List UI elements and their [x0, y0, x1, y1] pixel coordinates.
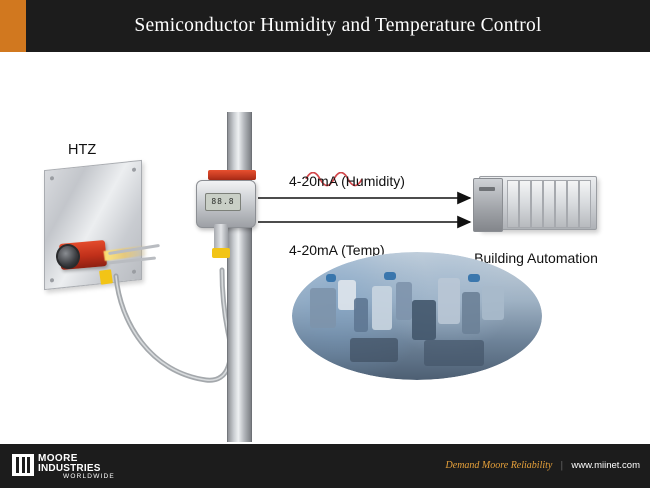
htz-label: HTZ: [68, 142, 96, 158]
diagram-canvas: HTZ 88.8: [0, 52, 650, 444]
plc-io-module: [579, 180, 591, 228]
transmitter-display: 88.8: [205, 193, 241, 211]
footer-tagline: Demand Moore Reliability: [446, 460, 553, 471]
sensor-cable: [110, 262, 240, 412]
transmitter-cable-tag: [212, 248, 230, 258]
footer-url[interactable]: www.miinet.com: [571, 460, 640, 471]
building-automation-plc: [473, 176, 595, 234]
plc-io-module: [519, 180, 531, 228]
plc-io-module: [507, 180, 519, 228]
plc-io-module: [555, 180, 567, 228]
mounting-plate: [44, 160, 142, 290]
slide-root: Semiconductor Humidity and Temperature C…: [0, 0, 650, 488]
header-accent-bar: [0, 0, 26, 52]
plc-io-module: [543, 180, 555, 228]
plate-screw-icon: [50, 176, 54, 180]
footer-info: Demand Moore Reliability | www.miinet.co…: [446, 444, 640, 488]
transmitter-mounting-bracket: [208, 170, 256, 180]
moore-logo-icon: [12, 454, 34, 476]
plc-io-module: [567, 180, 579, 228]
cleanroom-photo-image: [292, 252, 542, 380]
footer-logo: MOORE INDUSTRIES WORLDWIDE: [0, 444, 130, 488]
slide-header: Semiconductor Humidity and Temperature C…: [0, 0, 650, 52]
process-pipe: [227, 112, 252, 442]
htz-cable-tag: [99, 269, 113, 285]
footer-separator: |: [555, 460, 569, 471]
page-title: Semiconductor Humidity and Temperature C…: [26, 0, 650, 52]
plc-led-icon: [479, 187, 495, 191]
signal-label-humidity: 4-20mA (Humidity): [289, 173, 405, 189]
footer-logo-line3: WORLDWIDE: [63, 473, 115, 480]
plate-screw-icon: [132, 269, 136, 273]
cleanroom-photo: [292, 252, 542, 380]
plate-screw-icon: [132, 167, 136, 171]
slide-footer: MOORE INDUSTRIES WORLDWIDE Demand Moore …: [0, 444, 650, 488]
plc-cpu-module: [473, 178, 503, 232]
plate-screw-icon: [50, 278, 54, 282]
plc-io-module: [531, 180, 543, 228]
